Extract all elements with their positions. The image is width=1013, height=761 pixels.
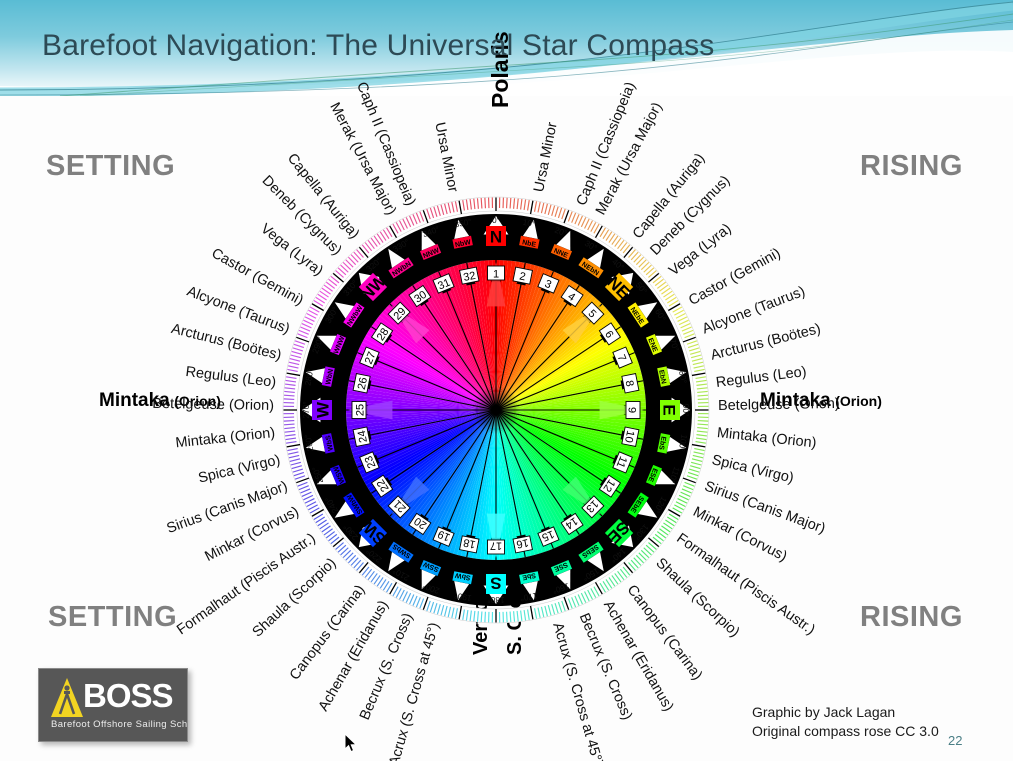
svg-text:N: N: [490, 227, 502, 246]
svg-text:W: W: [313, 401, 332, 418]
label-setting-top-left: SETTING: [46, 150, 175, 183]
credits-block: Graphic by Jack Lagan Original compass r…: [752, 703, 939, 741]
label-rising-bottom-right: RISING: [860, 601, 963, 634]
mouse-cursor-icon: [344, 733, 358, 753]
svg-text:90°: 90°: [681, 404, 691, 417]
mintaka-constellation-east: (Orion): [835, 393, 882, 409]
svg-text:16: 16: [515, 536, 529, 550]
boss-wordmark: BOSS: [83, 677, 173, 715]
svg-text:25: 25: [354, 404, 366, 416]
svg-text:10: 10: [622, 429, 636, 443]
svg-text:18: 18: [462, 536, 476, 550]
star-name-label: Betelgeuse (Orion): [718, 396, 840, 414]
svg-text:32: 32: [462, 270, 476, 284]
svg-text:9: 9: [626, 407, 638, 413]
label-rising-top-right: RISING: [860, 150, 963, 183]
svg-text:0°: 0°: [492, 215, 500, 225]
svg-text:17: 17: [490, 540, 502, 552]
slide-canvas: Barefoot Navigation: The Universal Star …: [0, 0, 1013, 761]
boss-sail-icon: [47, 677, 87, 719]
star-name-label: Betelgeuse (Orion): [152, 396, 274, 414]
page-number: 22: [948, 733, 962, 748]
boss-tagline: Barefoot Offshore Sailing School: [51, 719, 188, 730]
svg-text:1: 1: [493, 268, 499, 280]
svg-text:E: E: [660, 404, 679, 415]
svg-text:180°: 180°: [487, 595, 504, 605]
svg-text:S: S: [490, 574, 501, 593]
page-title: Barefoot Navigation: The Universal Star …: [42, 29, 715, 63]
svg-text:26: 26: [356, 376, 370, 390]
credit-line-license: Original compass rose CC 3.0: [752, 722, 939, 741]
svg-text:270°: 270°: [301, 401, 311, 418]
credit-line-author: Graphic by Jack Lagan: [752, 703, 939, 722]
boss-logo: BOSS Barefoot Offshore Sailing School: [38, 668, 188, 742]
svg-text:24: 24: [356, 429, 370, 443]
label-setting-bottom-left: SETTING: [48, 601, 177, 634]
